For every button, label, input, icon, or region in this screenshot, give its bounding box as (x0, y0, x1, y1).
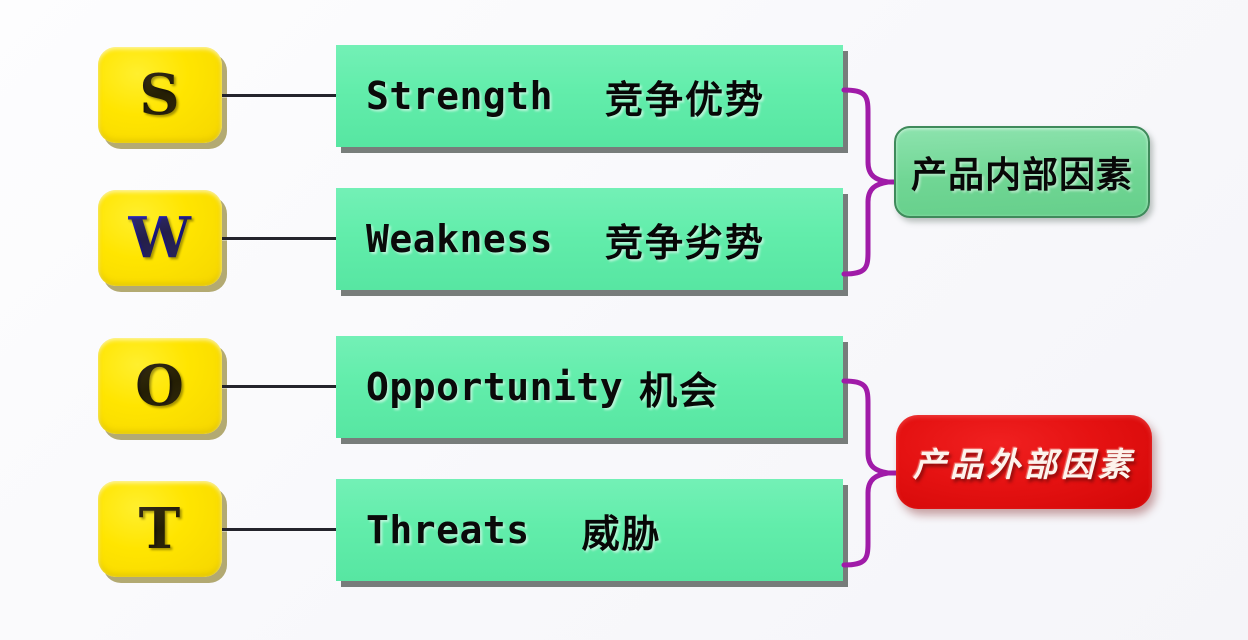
connector-stem-o (222, 385, 338, 388)
letter-glyph-w: W (128, 210, 192, 266)
letter-glyph-s: S (139, 67, 180, 123)
term-chinese-threats: 威胁 (582, 503, 662, 558)
term-english-strength: Strength (366, 74, 553, 118)
term-bar-weakness[interactable]: Weakness 竞争劣势 (336, 188, 843, 290)
term-bar-opportunity[interactable]: Opportunity 机会 (336, 336, 843, 438)
letter-tile-w[interactable]: W (98, 190, 222, 286)
connector-stem-s (222, 94, 338, 97)
connector-stem-w (222, 237, 338, 240)
category-label-internal: 产品内部因素 (911, 146, 1133, 198)
term-chinese-opportunity: 机会 (639, 360, 719, 415)
letter-tile-o[interactable]: O (98, 338, 222, 434)
term-english-threats: Threats (366, 508, 530, 552)
category-external-factors[interactable]: 产品外部因素 (896, 415, 1152, 509)
category-label-external: 产品外部因素 (913, 438, 1135, 486)
letter-tile-s[interactable]: S (98, 47, 222, 143)
term-english-opportunity: Opportunity (366, 365, 623, 409)
connector-stem-t (222, 528, 338, 531)
swot-diagram: S Strength 竞争优势 W Weakness 竞争劣势 O Opport… (0, 0, 1248, 640)
term-bar-threats[interactable]: Threats 威胁 (336, 479, 843, 581)
term-bar-strength[interactable]: Strength 竞争优势 (336, 45, 843, 147)
term-english-weakness: Weakness (366, 217, 553, 261)
term-chinese-weakness: 竞争劣势 (605, 212, 765, 267)
category-internal-factors[interactable]: 产品内部因素 (894, 126, 1150, 218)
letter-glyph-o: O (135, 358, 185, 414)
letter-glyph-t: T (139, 501, 182, 557)
term-chinese-strength: 竞争优势 (605, 69, 765, 124)
letter-tile-t[interactable]: T (98, 481, 222, 577)
